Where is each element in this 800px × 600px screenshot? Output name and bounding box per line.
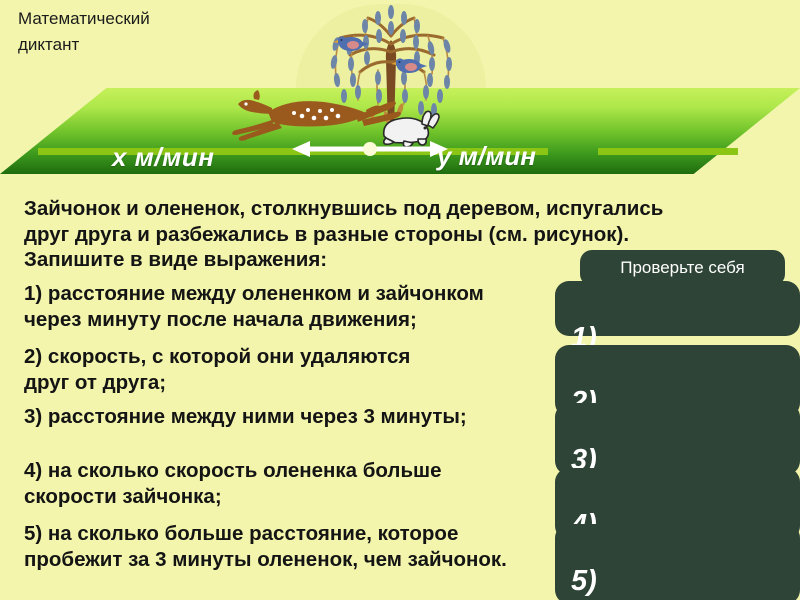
answer-number-5: 5) — [571, 565, 597, 597]
task-item-2: 2) скорость, с которой они удаляются дру… — [24, 344, 410, 395]
answer-panel-1: 1) x + y (м); — [555, 281, 800, 336]
task-item-3: 3) расстояние между ними через 3 минуты; — [24, 404, 467, 430]
speed-label-y: y м/мин — [437, 140, 557, 173]
speed-label-x: x м/мин — [112, 142, 214, 173]
slide-canvas: Математический диктант — [0, 0, 800, 600]
ground-line-right — [598, 148, 738, 155]
answer-panel-3: 3) 3 (x + y) м; — [555, 403, 800, 475]
task-item-4: 4) на сколько скорость олененка больше с… — [24, 458, 442, 509]
answer-panel-5: 5) 3 (x – y) м. — [555, 524, 800, 600]
task-item-1: 1) расстояние между олененком и зайчонко… — [24, 281, 484, 332]
check-yourself-header: Проверьте себя — [580, 250, 785, 286]
illustration-scene: x м/мин y м/мин — [0, 0, 800, 200]
double-headed-arrow-icon — [292, 138, 448, 160]
running-deer-icon — [228, 86, 403, 144]
task-item-5: 5) на сколько больше расстояние, которое… — [24, 521, 507, 572]
